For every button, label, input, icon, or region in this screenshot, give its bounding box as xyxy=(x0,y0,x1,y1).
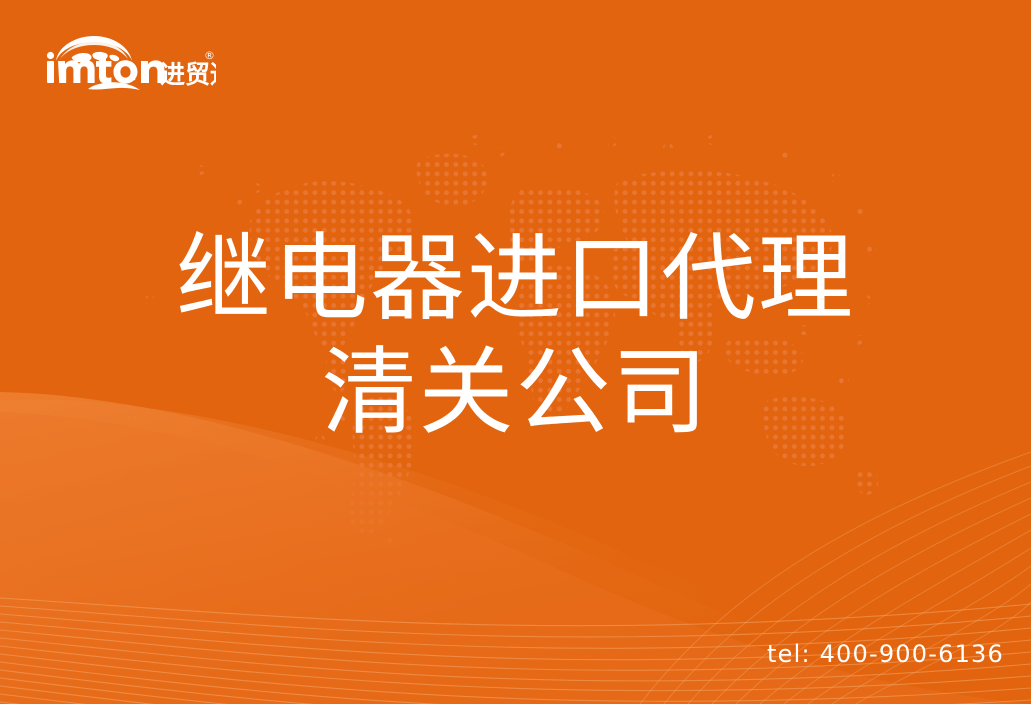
promo-banner: 进贸通 ® 继电器进口代理 清关公司 tel: 400-900-6136 xyxy=(0,0,1031,704)
contact-phone[interactable]: tel: 400-900-6136 xyxy=(767,640,1004,668)
logo-wordmark xyxy=(47,52,164,84)
headline-line-2: 清关公司 xyxy=(0,336,1031,450)
logo-trademark-icon: ® xyxy=(204,49,215,62)
dolphin-swoosh-icon xyxy=(88,79,140,91)
logo-chinese-name: 进贸通 xyxy=(160,60,216,89)
page-title: 继电器进口代理 清关公司 xyxy=(0,222,1031,450)
imton-logo[interactable]: 进贸通 ® xyxy=(44,33,216,95)
headline-line-1: 继电器进口代理 xyxy=(0,222,1031,336)
